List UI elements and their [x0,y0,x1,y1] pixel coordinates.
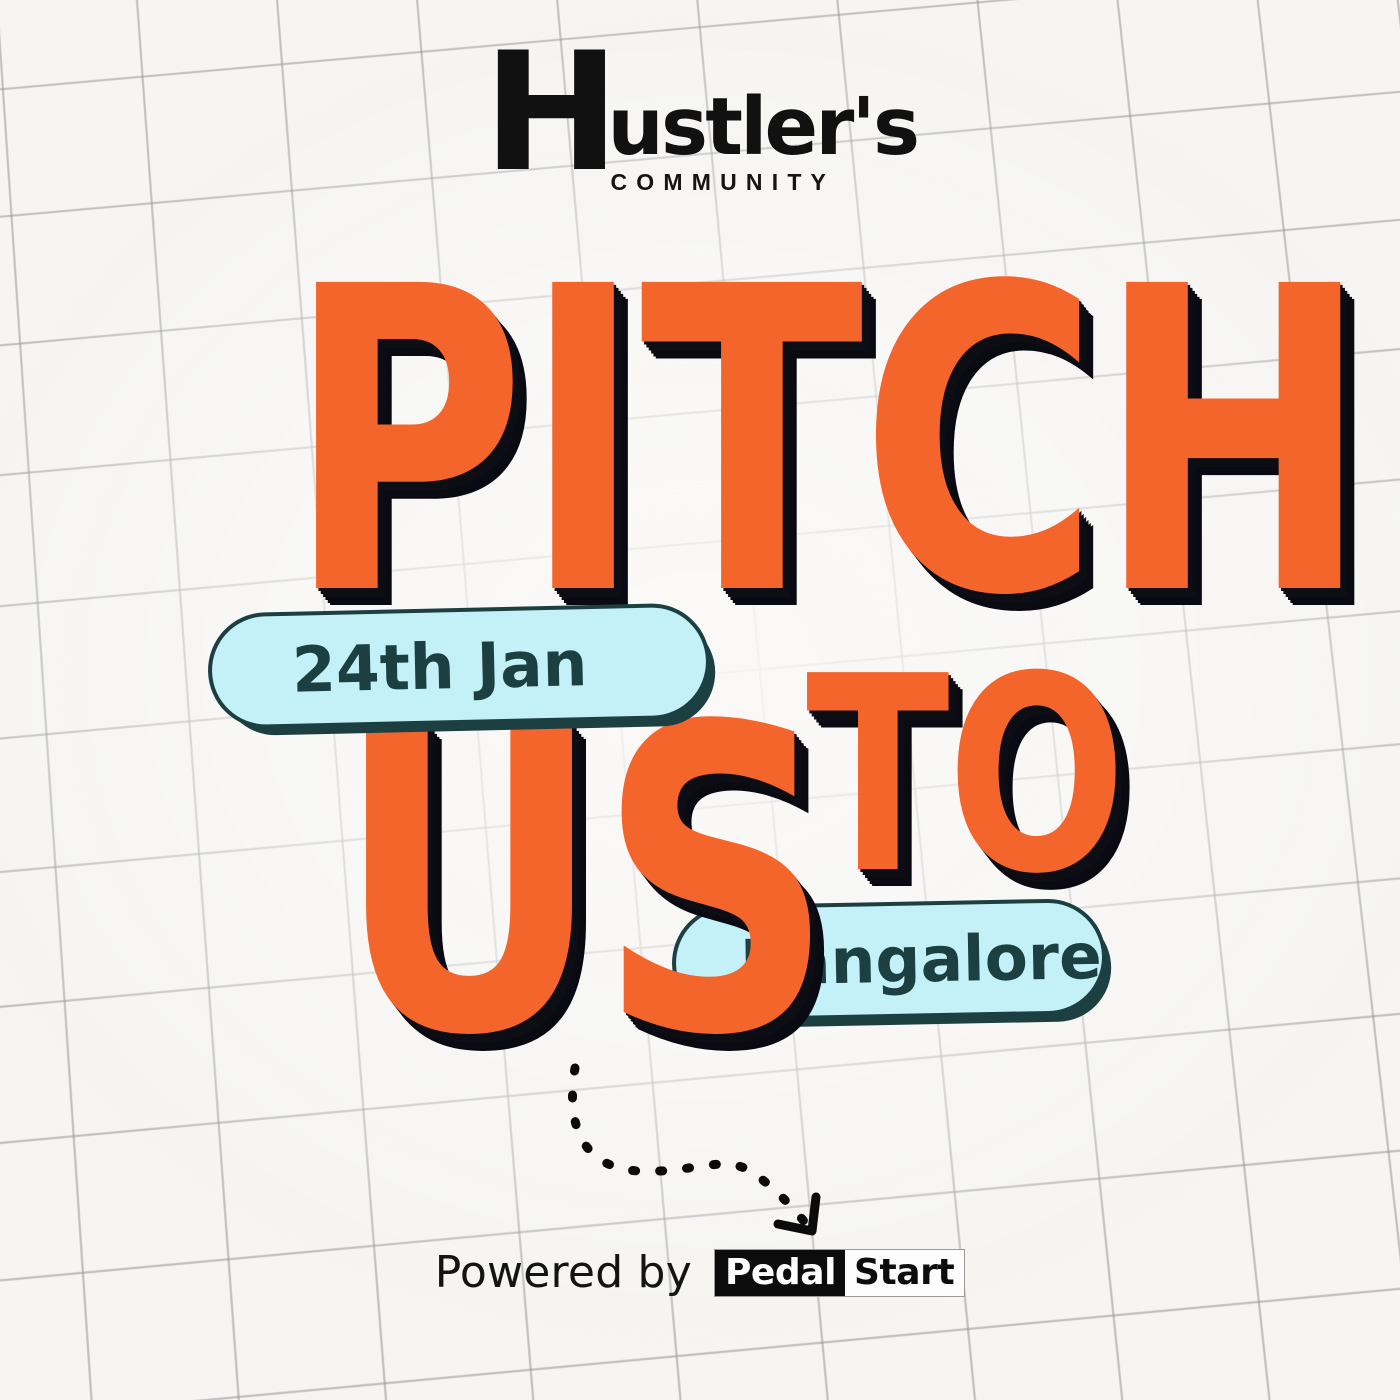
brand-wordmark: ustler's [607,94,917,162]
poster-canvas: H ustler's COMMUNITY PITCH TO US 24th Ja… [0,0,1400,1400]
brand-text-block: ustler's COMMUNITY [607,58,917,196]
grid-vignette [0,0,1400,1400]
brand-logo: H ustler's COMMUNITY [0,58,1400,208]
brand-mark: H ustler's COMMUNITY [483,58,917,208]
background-grid [0,0,1400,1400]
brand-subtitle: COMMUNITY [607,169,917,196]
footer-credit: Powered by Pedal Start [0,1247,1400,1298]
event-date-pill: 24th Jan [211,606,707,725]
curved-dashed-arrow-icon [520,1040,860,1260]
event-city-pill: Bangalore [675,902,1103,1018]
grid-lines [0,0,1400,1400]
headline-block: PITCH TO US [0,0,1400,1400]
pedalstart-logo-pedal: Pedal [715,1250,845,1296]
headline-word-to: TO [806,668,1124,884]
pedalstart-logo-start: Start [845,1250,964,1296]
pedalstart-logo: Pedal Start [714,1249,965,1297]
event-date-label: 24th Jan [291,627,588,707]
powered-by-label: Powered by [435,1247,692,1298]
event-city-label: Bangalore [739,919,1102,999]
brand-initial-h: H [483,52,614,173]
headline-word-pitch: PITCH [286,276,1366,612]
